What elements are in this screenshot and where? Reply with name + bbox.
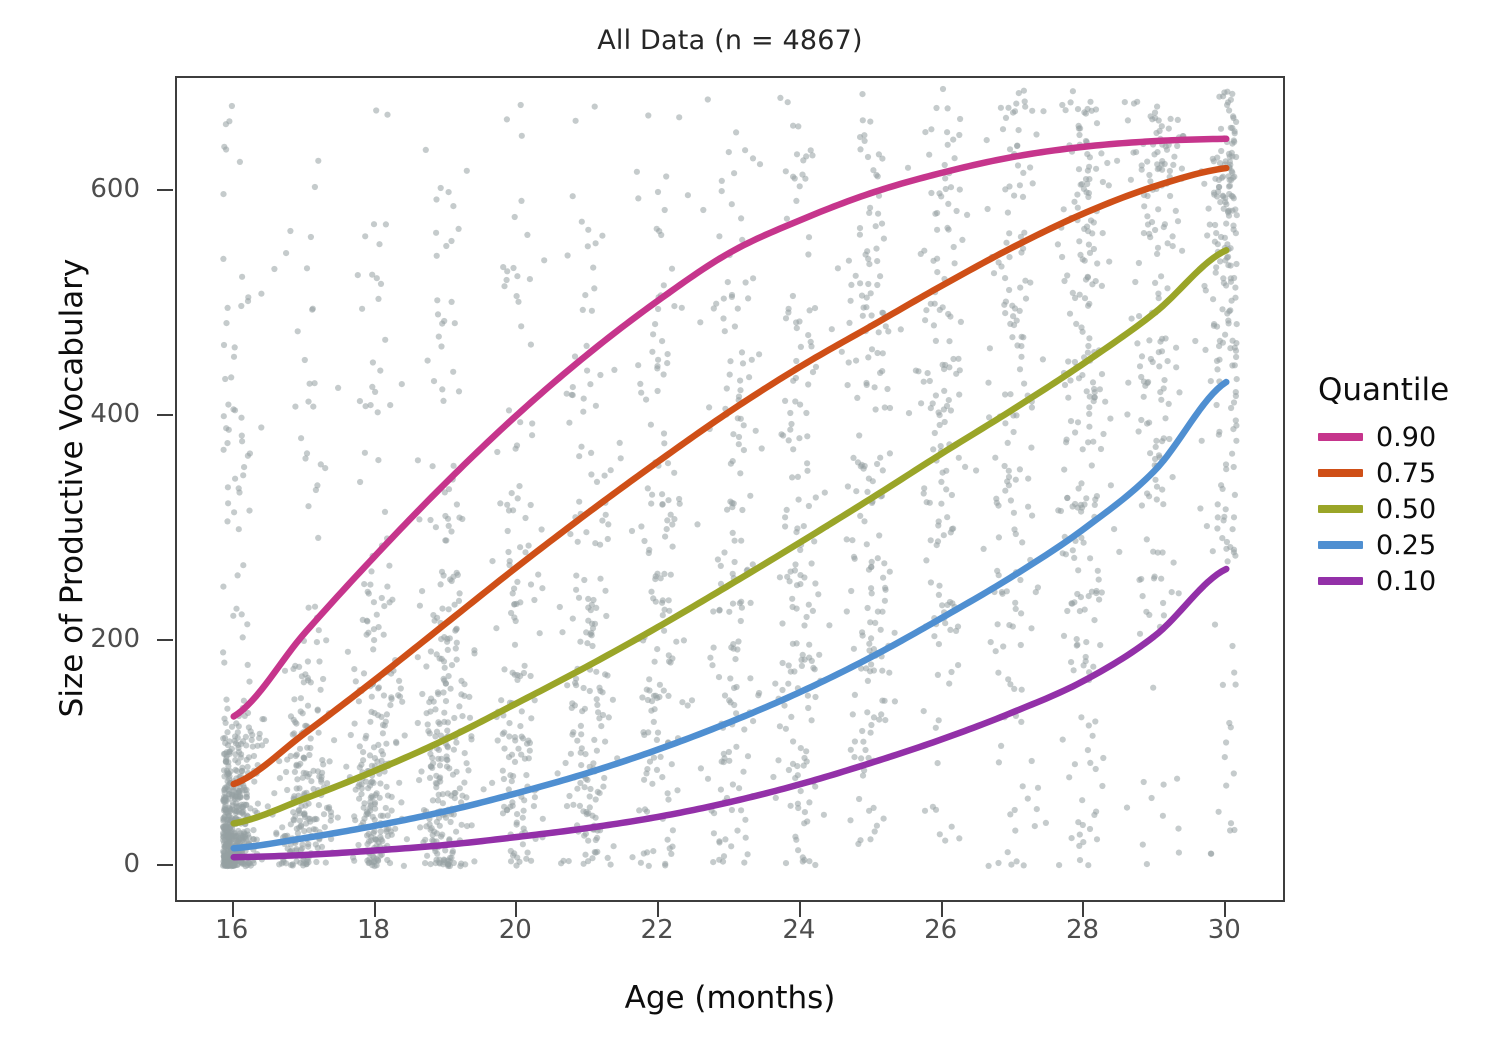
x-tick-label: 28 — [1042, 915, 1122, 945]
chart-title: All Data (n = 4867) — [175, 25, 1285, 56]
legend-item[interactable]: 0.25 — [1318, 527, 1493, 563]
legend-key-swatch — [1318, 433, 1363, 441]
legend-item[interactable]: 0.10 — [1318, 563, 1493, 599]
plot-canvas — [177, 78, 1283, 900]
legend-item[interactable]: 0.50 — [1318, 491, 1493, 527]
quantile-curve-0.25 — [234, 382, 1227, 848]
y-tick-label: 600 — [60, 174, 140, 204]
legend-key-swatch — [1318, 469, 1363, 477]
x-tick-mark — [515, 902, 517, 917]
y-tick-label: 200 — [60, 624, 140, 654]
x-tick-mark — [1082, 902, 1084, 917]
quantile-curve-0.75 — [234, 168, 1227, 784]
legend-key-swatch — [1318, 541, 1363, 549]
y-tick-label: 400 — [60, 399, 140, 429]
legend-item-label: 0.25 — [1376, 530, 1436, 561]
x-tick-label: 30 — [1184, 915, 1264, 945]
legend-item[interactable]: 0.90 — [1318, 419, 1493, 455]
legend-items: 0.900.750.500.250.10 — [1318, 419, 1493, 599]
x-tick-mark — [232, 902, 234, 917]
x-tick-label: 20 — [475, 915, 555, 945]
plot-panel — [175, 76, 1285, 902]
legend: Quantile 0.900.750.500.250.10 — [1318, 372, 1493, 599]
x-tick-label: 24 — [759, 915, 839, 945]
x-tick-mark — [657, 902, 659, 917]
quantile-curve-0.90 — [234, 139, 1227, 717]
legend-key-swatch — [1318, 505, 1363, 513]
x-tick-label: 22 — [617, 915, 697, 945]
legend-item[interactable]: 0.75 — [1318, 455, 1493, 491]
x-tick-mark — [1224, 902, 1226, 917]
y-tick-label: 0 — [60, 849, 140, 879]
y-tick-mark — [157, 189, 173, 191]
x-tick-label: 16 — [192, 915, 272, 945]
x-tick-mark — [799, 902, 801, 917]
y-tick-mark — [157, 639, 173, 641]
x-tick-label: 26 — [901, 915, 981, 945]
legend-title: Quantile — [1318, 372, 1493, 408]
legend-item-label: 0.90 — [1376, 422, 1436, 453]
scatter-points-layer — [220, 86, 1240, 869]
x-tick-label: 18 — [334, 915, 414, 945]
y-axis-title: Size of Productive Vocabulary — [54, 168, 90, 808]
x-axis-title: Age (months) — [175, 980, 1285, 1016]
legend-item-label: 0.75 — [1376, 458, 1436, 489]
legend-item-label: 0.10 — [1376, 566, 1436, 597]
x-tick-mark — [941, 902, 943, 917]
x-tick-mark — [374, 902, 376, 917]
legend-key-swatch — [1318, 577, 1363, 585]
y-tick-mark — [157, 864, 173, 866]
y-tick-mark — [157, 414, 173, 416]
legend-item-label: 0.50 — [1376, 494, 1436, 525]
chart-figure: All Data (n = 4867) Size of Productive V… — [0, 0, 1500, 1050]
